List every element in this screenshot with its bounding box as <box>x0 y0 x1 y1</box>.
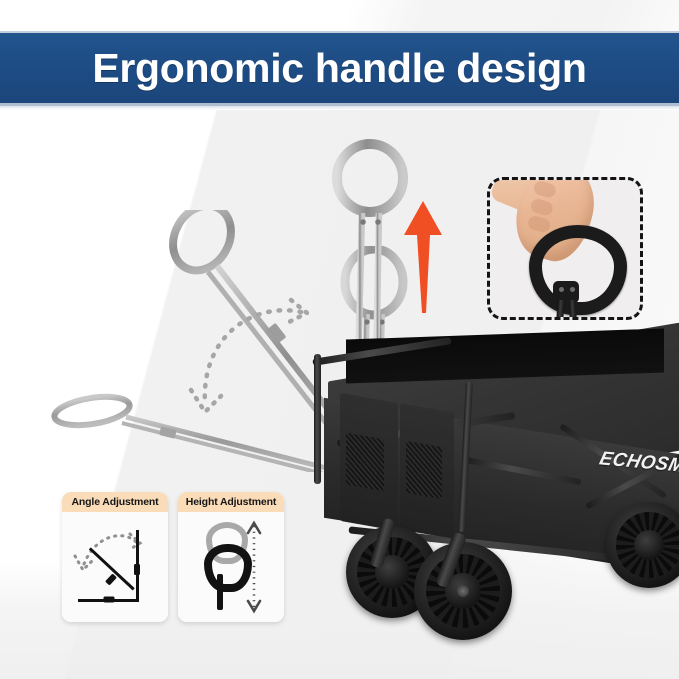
page-title: Ergonomic handle design <box>92 48 586 89</box>
height-diagram-icon <box>178 512 284 622</box>
wheel-rear-right <box>606 502 679 588</box>
card-height-adjustment: Height Adjustment <box>178 492 284 622</box>
card-angle-adjustment: Angle Adjustment <box>62 492 168 622</box>
handle-screw-left <box>559 287 564 292</box>
handle-grip-ring <box>529 225 627 315</box>
frame-left-post <box>314 354 321 484</box>
angle-adjust-arrow <box>183 296 333 436</box>
wagon-cart: ECHOSM <box>318 330 679 630</box>
angle-lock-b <box>104 597 115 603</box>
angle-diagram-icon <box>62 512 168 622</box>
feature-cards: Angle Adjustment Height Adjustment <box>62 492 286 624</box>
hand-grip-closeup <box>487 177 643 320</box>
card-angle-title: Angle Adjustment <box>71 496 158 508</box>
card-height-title: Height Adjustment <box>186 496 276 508</box>
angle-lock-c <box>134 564 140 575</box>
product-feature-image: Ergonomic handle design <box>0 0 679 679</box>
height-adjust-arrow <box>403 201 443 313</box>
card-height-header: Height Adjustment <box>178 492 284 512</box>
wheel-hub-front <box>457 585 469 597</box>
mesh-pocket-left <box>346 433 384 492</box>
header-banner: Ergonomic handle design <box>0 31 679 106</box>
card-angle-header: Angle Adjustment <box>62 492 168 512</box>
mesh-pocket-right <box>406 441 442 499</box>
handle-screw-right <box>570 287 575 292</box>
